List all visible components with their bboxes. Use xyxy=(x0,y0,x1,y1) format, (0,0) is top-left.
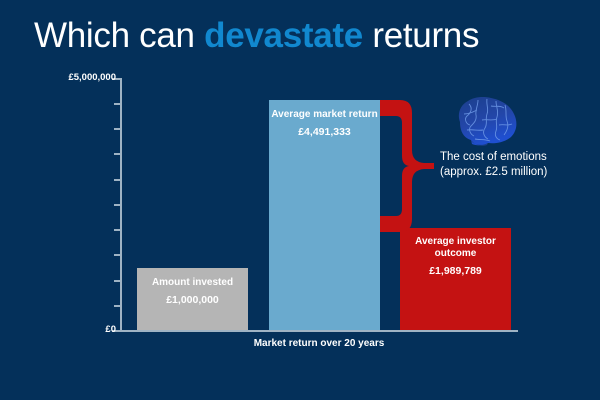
y-tick-4000000 xyxy=(114,128,120,130)
annotation-cost-of-emotions: The cost of emotions (approx. £2.5 milli… xyxy=(440,150,600,179)
bar-value-average-market-return: £4,491,333 xyxy=(269,121,380,139)
annotation-line-2: (approx. £2.5 million) xyxy=(440,165,600,180)
y-axis-label-max: £5,000,000 xyxy=(68,72,116,83)
slide-canvas: Which can devastate returns £5,000,000 £… xyxy=(0,0,600,400)
annotation-line-1: The cost of emotions xyxy=(440,150,600,165)
bar-chart: £5,000,000 £0 Amount invested £1,000,000… xyxy=(0,0,600,400)
bar-amount-invested[interactable]: Amount invested £1,000,000 xyxy=(137,268,248,330)
x-axis-line xyxy=(120,330,518,332)
brain-icon xyxy=(447,92,523,154)
x-axis-label: Market return over 20 years xyxy=(120,338,518,349)
y-tick-1000000 xyxy=(114,280,120,282)
y-tick-2000000 xyxy=(114,229,120,231)
y-tick-2500000 xyxy=(114,204,120,206)
y-axis-line xyxy=(120,78,122,332)
y-axis-label-min: £0 xyxy=(105,324,116,335)
bar-value-average-investor-outcome: £1,989,789 xyxy=(400,260,511,278)
y-tick-4500000 xyxy=(114,103,120,105)
y-tick-500000 xyxy=(114,305,120,307)
curly-brace-icon xyxy=(378,96,440,236)
bar-value-amount-invested: £1,000,000 xyxy=(137,289,248,307)
bar-label-average-market-return: Average market return xyxy=(269,100,380,121)
bar-average-market-return[interactable]: Average market return £4,491,333 xyxy=(269,100,380,330)
y-tick-3000000 xyxy=(114,179,120,181)
y-tick-3500000 xyxy=(114,153,120,155)
bar-label-amount-invested: Amount invested xyxy=(137,268,248,289)
bar-average-investor-outcome[interactable]: Average investor outcome £1,989,789 xyxy=(400,228,511,330)
y-tick-1500000 xyxy=(114,254,120,256)
